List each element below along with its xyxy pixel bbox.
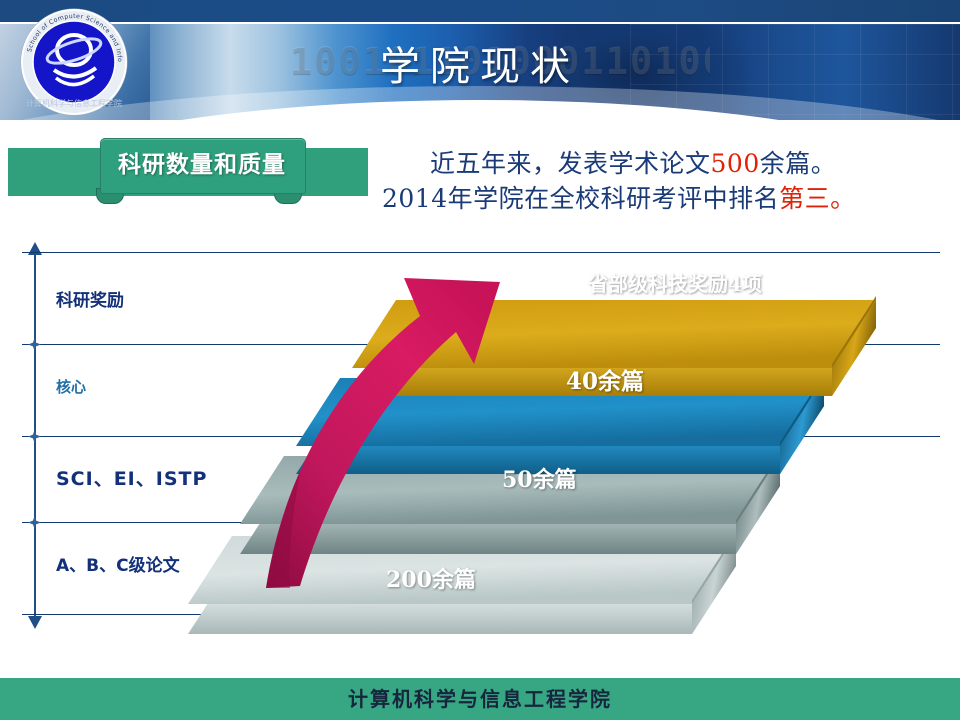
section-ribbon: 科研数量和质量 [8,144,368,200]
stairs-3d-group [0,236,960,646]
ribbon-label: 科研数量和质量 [100,138,304,192]
step-label-core: 40余篇 [566,362,644,396]
headline-block: 近五年来，发表学术论文500余篇。 2014年学院在全校科研考评中排名第三。 [382,146,956,216]
headline-line2-part-a: 2014年学院在全校科研考评中排名 [382,184,779,213]
headline-line1-highlight: 500 [711,149,760,178]
step-label-abc: 200余篇 [386,562,476,594]
step-label-sci: 50余篇 [502,462,577,494]
slide-root: 10010110100011010010 学院现状 School of Comp… [0,0,960,720]
svg-text:计算机科学与信息工程学院: 计算机科学与信息工程学院 [26,98,122,108]
staircase-chart: 科研奖励 核心 SCI、EI、ISTP A、B、C级论文 [0,236,960,646]
page-title: 学院现状 [0,34,960,92]
footer-label: 计算机科学与信息工程学院 [0,678,960,720]
headline-line2-highlight: 第三。 [779,184,856,213]
headline-line-2: 2014年学院在全校科研考评中排名第三。 [382,181,956,216]
school-emblem-logo: School of Computer Science and Informati… [18,6,130,118]
headline-line1-part-b: 余篇。 [760,149,837,178]
header-top-strip [0,0,960,22]
headline-line-1: 近五年来，发表学术论文500余篇。 [382,146,956,181]
step-label-awards: 省部级科技奖励4项 [588,268,762,297]
headline-line1-part-a: 近五年来，发表学术论文 [430,149,711,178]
